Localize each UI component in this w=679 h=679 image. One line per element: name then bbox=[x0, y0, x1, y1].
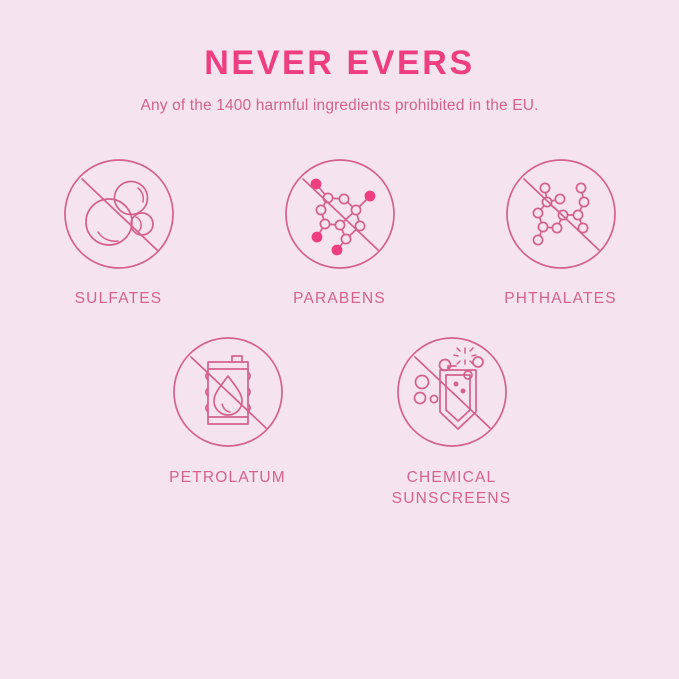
grid-row-bottom: PETROLATUM bbox=[0, 336, 679, 510]
ingredient-grid: SULFATES bbox=[0, 158, 679, 510]
never-evers-poster: NEVER EVERS Any of the 1400 harmful ingr… bbox=[0, 0, 679, 679]
no-phthalates-molecule-icon bbox=[505, 158, 617, 270]
no-sulfates-bubbles-icon bbox=[63, 158, 175, 270]
grid-item-label: PETROLATUM bbox=[169, 468, 286, 489]
grid-item-label: PARABENS bbox=[293, 289, 386, 310]
no-parabens-molecule-icon bbox=[284, 158, 396, 270]
grid-item-parabens: PARABENS bbox=[266, 158, 414, 310]
no-chemical-sunscreen-icon bbox=[396, 336, 508, 448]
grid-item-label: SULFATES bbox=[75, 289, 163, 310]
grid-item-phthalates: PHTHALATES bbox=[487, 158, 635, 310]
page-subtitle: Any of the 1400 harmful ingredients proh… bbox=[0, 96, 679, 116]
header: NEVER EVERS Any of the 1400 harmful ingr… bbox=[0, 0, 679, 116]
grid-item-label: CHEMICAL SUNSCREENS bbox=[392, 468, 512, 510]
grid-item-label: PHTHALATES bbox=[504, 289, 617, 310]
grid-item-chemical-sunscreens: CHEMICAL SUNSCREENS bbox=[378, 336, 526, 510]
no-petrolatum-barrel-icon bbox=[172, 336, 284, 448]
page-title: NEVER EVERS bbox=[0, 44, 679, 83]
grid-item-sulfates: SULFATES bbox=[45, 158, 193, 310]
grid-item-petrolatum: PETROLATUM bbox=[154, 336, 302, 489]
grid-row-top: SULFATES bbox=[0, 158, 679, 310]
